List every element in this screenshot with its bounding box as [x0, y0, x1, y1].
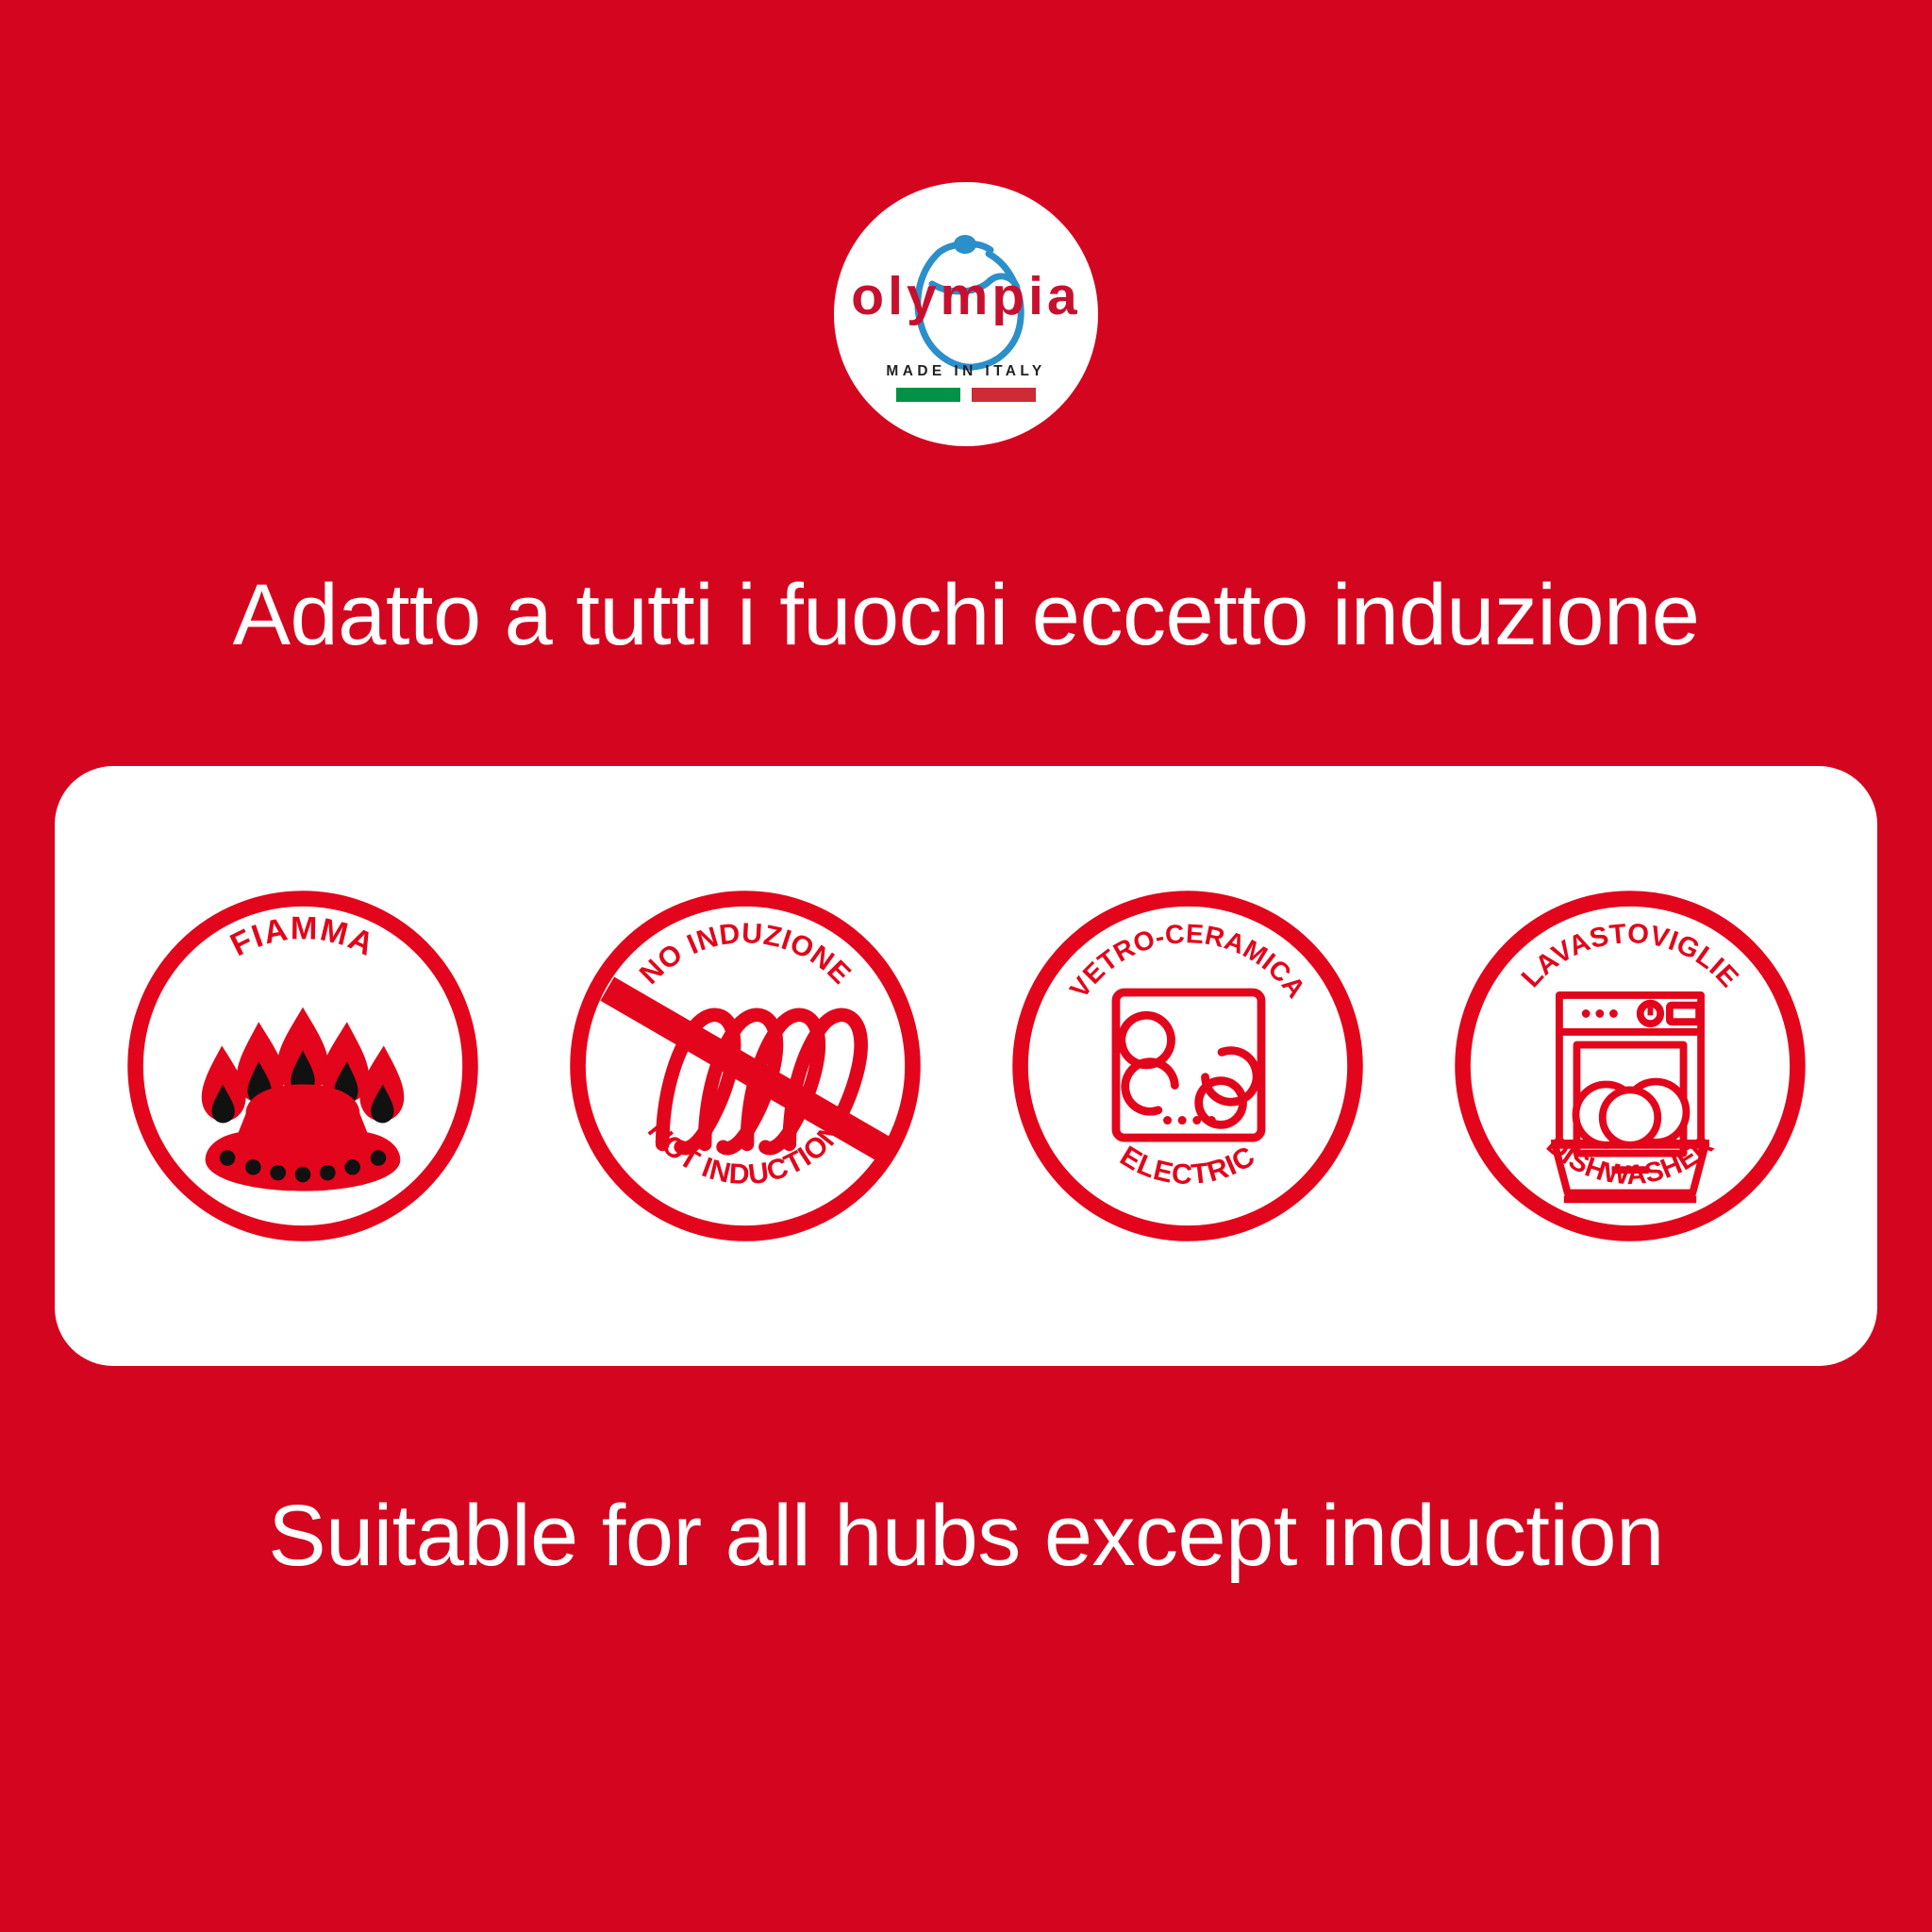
- badge-dishwasher[interactable]: LAVASTOVIGLIE DISHWASHER: [1446, 882, 1814, 1250]
- badge-gas[interactable]: FIAMMA GAS: [119, 882, 487, 1250]
- badge-top-label: NO INDUZIONE: [633, 918, 856, 991]
- gas-burner-icon: [201, 1008, 404, 1191]
- olympia-logo-badge: olympia MADE IN ITALY: [834, 182, 1098, 446]
- headline-italian: Adatto a tutti i fuochi eccetto induzion…: [0, 562, 1932, 668]
- headline-english: Suitable for all hubs except induction: [0, 1483, 1932, 1589]
- badge-bottom-label: ELECTRIC: [1114, 1141, 1260, 1191]
- dishwasher-indicator-dots: [1581, 1009, 1617, 1018]
- flag-bar-green: [896, 388, 960, 402]
- logo-tagline-text: MADE IN ITALY: [886, 363, 1045, 379]
- badge-row: FIAMMA GAS: [55, 766, 1877, 1366]
- ceramic-cooktop-icon: [1115, 992, 1260, 1138]
- badge-induction[interactable]: NO INDUZIONE NOT INDUCTION: [561, 882, 929, 1250]
- product-feature-poster: olympia MADE IN ITALY Adatto a tutti i f…: [0, 0, 1932, 1932]
- dishes-icon: [1575, 1082, 1686, 1145]
- olympia-logo-icon: olympia MADE IN ITALY: [834, 182, 1098, 446]
- compatibility-panel: FIAMMA GAS: [55, 766, 1877, 1366]
- logo-brand-text: olympia: [851, 266, 1080, 326]
- flag-bar-red: [972, 388, 1036, 402]
- badge-top-label: FIAMMA: [225, 910, 380, 963]
- badge-top-label: LAVASTOVIGLIE: [1516, 919, 1744, 993]
- badge-electric[interactable]: VETRO-CERAMICA ELECTRIC: [1004, 882, 1372, 1250]
